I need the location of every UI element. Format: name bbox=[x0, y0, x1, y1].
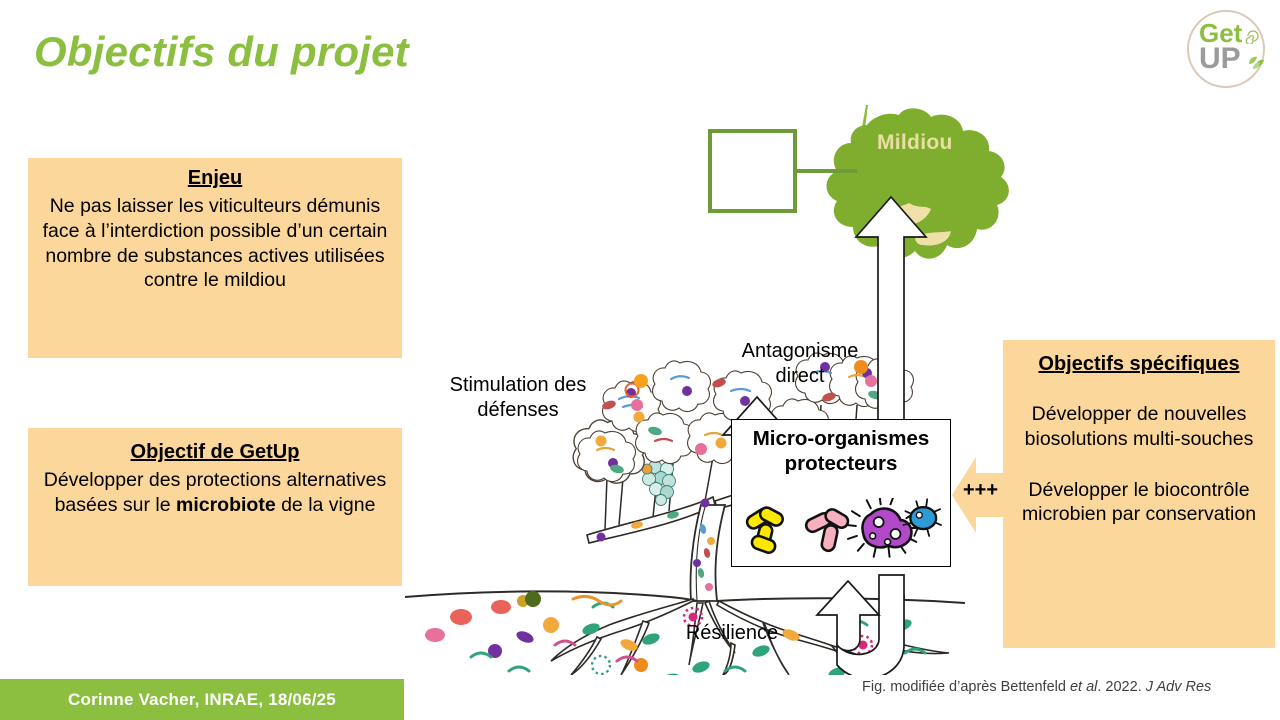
plus-marker-label: +++ bbox=[963, 479, 998, 502]
leaf-icon bbox=[1243, 50, 1269, 74]
objectif-getup-heading: Objectif de GetUp bbox=[38, 440, 392, 466]
micro-organisms-line1: Micro-organismes bbox=[732, 427, 950, 452]
getup-logo: Get UP bbox=[1183, 6, 1275, 92]
yellow-bacteria-icon bbox=[745, 505, 785, 554]
micro-organisms-icons bbox=[732, 498, 950, 562]
objectifs-spec-para2: Développer le biocontrôle microbien par … bbox=[1011, 478, 1267, 528]
objectif-getup-body-after: de la vigne bbox=[276, 494, 376, 516]
micro-organisms-title: Micro-organismes protecteurs bbox=[732, 427, 950, 476]
credit-part2: . 2022. bbox=[1097, 679, 1145, 695]
micro-organisms-line2: protecteurs bbox=[732, 452, 950, 477]
footer-author: Corinne Vacher, INRAE, 18/06/25 bbox=[0, 679, 404, 720]
info-box-objectif-getup: Objectif de GetUp Développer des protect… bbox=[28, 428, 402, 586]
swirl-icon bbox=[1245, 28, 1263, 44]
credit-italic1: et al bbox=[1070, 679, 1097, 695]
enjeu-heading: Enjeu bbox=[38, 166, 392, 192]
enjeu-body: Ne pas laisser les viticulteurs démunis … bbox=[43, 195, 388, 292]
credit-italic2: J Adv Res bbox=[1146, 679, 1212, 695]
mildiou-label: Mildiou bbox=[877, 131, 953, 155]
logo-up-text: UP bbox=[1199, 42, 1241, 76]
credit-part1: Fig. modifiée d’après Bettenfeld bbox=[862, 679, 1070, 695]
label-stimulation-des-defenses: Stimulation des défenses bbox=[443, 373, 593, 423]
page-title: Objectifs du projet bbox=[34, 28, 409, 76]
pink-bacteria-icon bbox=[804, 507, 850, 552]
resilience-arrow bbox=[817, 575, 904, 675]
micro-organisms-box: Micro-organismes protecteurs bbox=[731, 419, 951, 567]
purple-microbe-icon bbox=[847, 498, 919, 557]
info-box-enjeu: Enjeu Ne pas laisser les viticulteurs dé… bbox=[28, 158, 402, 358]
label-resilience: Résilience bbox=[672, 621, 792, 646]
figure-credit: Fig. modifiée d’après Bettenfeld et al. … bbox=[862, 679, 1211, 695]
objectifs-spec-heading: Objectifs spécifiques bbox=[1011, 352, 1267, 378]
info-box-objectifs-specifiques: Objectifs spécifiques Développer de nouv… bbox=[1003, 340, 1275, 648]
label-antagonisme-direct: Antagonisme direct bbox=[724, 339, 876, 389]
objectifs-spec-para1: Développer de nouvelles biosolutions mul… bbox=[1025, 403, 1254, 450]
objectif-getup-body-bold: microbiote bbox=[176, 494, 276, 516]
slide-root: Objectifs du projet Get UP Enjeu Ne pas … bbox=[0, 0, 1280, 720]
